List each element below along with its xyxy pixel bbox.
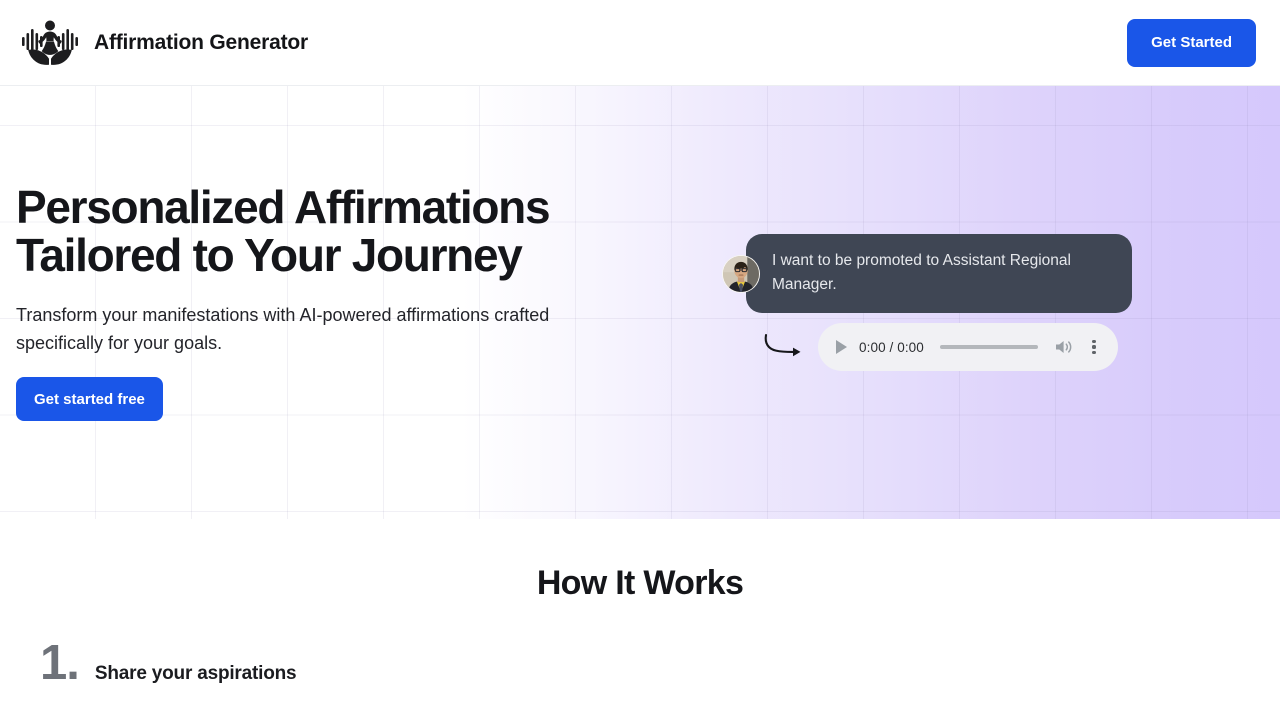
- step-label: Share your aspirations: [95, 663, 297, 685]
- get-started-free-button[interactable]: Get started free: [16, 377, 163, 421]
- audio-progress-bar[interactable]: [940, 345, 1038, 349]
- volume-icon[interactable]: [1054, 338, 1074, 356]
- audio-player[interactable]: 0:00 / 0:00: [818, 323, 1118, 371]
- audio-time-display: 0:00 / 0:00: [859, 340, 924, 355]
- audio-player-group: 0:00 / 0:00: [762, 323, 1118, 371]
- play-icon[interactable]: [836, 340, 847, 354]
- menu-dot: [1092, 345, 1095, 348]
- page-title: Personalized Affirmations Tailored to Yo…: [16, 183, 549, 279]
- hero-content: Personalized Affirmations Tailored to Yo…: [0, 86, 1280, 519]
- menu-dot: [1092, 351, 1095, 354]
- get-started-button[interactable]: Get Started: [1127, 19, 1256, 67]
- hero-title-line-2: Tailored to Your Journey: [16, 229, 522, 281]
- site-header: Affirmation Generator Get Started: [0, 0, 1280, 86]
- step-number: 1.: [40, 639, 79, 688]
- avatar: [722, 255, 760, 293]
- chat-bubble-text: I want to be promoted to Assistant Regio…: [746, 234, 1132, 313]
- brand[interactable]: Affirmation Generator: [20, 17, 308, 69]
- hero-section: Personalized Affirmations Tailored to Yo…: [0, 86, 1280, 519]
- brand-name: Affirmation Generator: [94, 31, 308, 55]
- affirmation-logo-icon: [20, 17, 80, 69]
- step-item: 1. Share your aspirations: [0, 639, 1280, 688]
- hero-subtitle: Transform your manifestations with AI-po…: [16, 301, 616, 357]
- how-it-works-title: How It Works: [0, 564, 1280, 603]
- more-vertical-icon[interactable]: [1086, 338, 1102, 356]
- curved-arrow-icon: [762, 332, 808, 366]
- hero-title-line-1: Personalized Affirmations: [16, 181, 549, 233]
- how-it-works-section: How It Works 1. Share your aspirations: [0, 519, 1280, 688]
- chat-message: I want to be promoted to Assistant Regio…: [722, 234, 1132, 313]
- menu-dot: [1092, 340, 1095, 343]
